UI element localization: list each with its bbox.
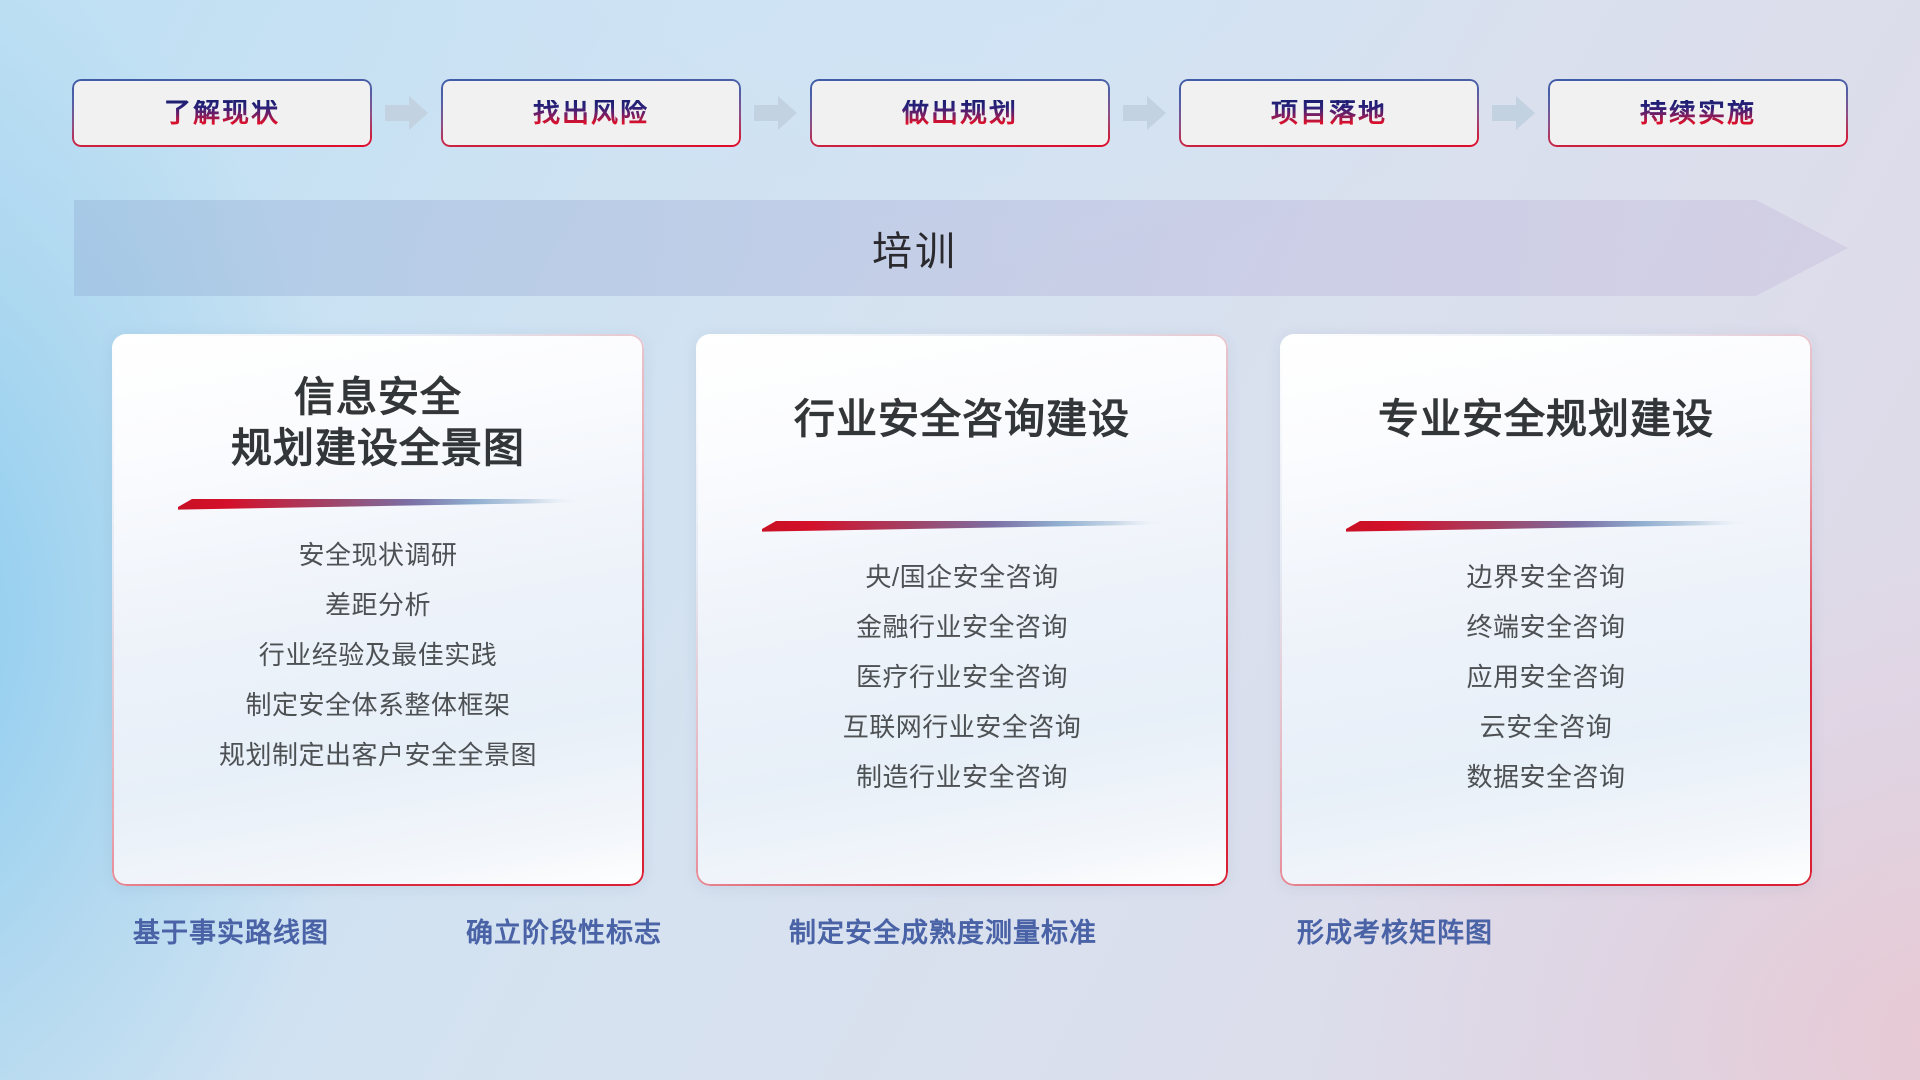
- slide-canvas: 了解现状 找出风险 做出规划 项目落地 持续实施 培训: [0, 0, 1920, 1080]
- footer-label-2: 确立阶段性标志: [466, 920, 662, 947]
- card-2-divider: [762, 518, 1162, 532]
- footer-labels: 基于事实路线图 确立阶段性标志 制定安全成熟度测量标准 形成考核矩阵图: [0, 920, 1920, 976]
- list-item: 规划制定出客户安全全景图: [219, 730, 537, 780]
- step-label-1: 了解现状: [164, 100, 280, 127]
- step-label-2: 找出风险: [533, 100, 649, 127]
- step-box-4[interactable]: 项目落地: [1179, 79, 1479, 147]
- list-item: 行业经验及最佳实践: [219, 630, 537, 680]
- list-item: 云安全咨询: [1466, 702, 1625, 752]
- list-item: 医疗行业安全咨询: [843, 652, 1082, 702]
- arrow-right-icon-2: [754, 95, 798, 131]
- list-item: 金融行业安全咨询: [843, 602, 1082, 652]
- training-banner: 培训: [74, 200, 1848, 296]
- process-steps: 了解现状 找出风险 做出规划 项目落地 持续实施: [72, 78, 1848, 148]
- card-3-title: 专业安全规划建设: [1378, 394, 1714, 445]
- list-item: 互联网行业安全咨询: [843, 702, 1082, 752]
- step-box-1[interactable]: 了解现状: [72, 79, 372, 147]
- card-1[interactable]: 信息安全 规划建设全景图: [112, 334, 644, 886]
- list-item: 应用安全咨询: [1466, 652, 1625, 702]
- step-label-3: 做出规划: [902, 100, 1018, 127]
- step-label-4: 项目落地: [1271, 100, 1387, 127]
- card-3-list: 边界安全咨询 终端安全咨询 应用安全咨询 云安全咨询 数据安全咨询: [1466, 552, 1625, 802]
- list-item: 差距分析: [219, 580, 537, 630]
- arrow-right-icon-4: [1492, 95, 1536, 131]
- card-1-title: 信息安全 规划建设全景图: [231, 372, 525, 474]
- banner-label: 培训: [74, 200, 1756, 296]
- card-1-divider: [178, 496, 578, 510]
- card-2-title: 行业安全咨询建设: [794, 394, 1130, 445]
- footer-label-1: 基于事实路线图: [133, 920, 329, 947]
- card-3-divider: [1346, 518, 1746, 532]
- list-item: 央/国企安全咨询: [843, 552, 1082, 602]
- card-3[interactable]: 专业安全规划建设: [1280, 334, 1812, 886]
- step-label-5: 持续实施: [1640, 100, 1756, 127]
- list-item: 制定安全体系整体框架: [219, 680, 537, 730]
- cards-row: 信息安全 规划建设全景图: [112, 334, 1812, 886]
- list-item: 制造行业安全咨询: [843, 752, 1082, 802]
- step-box-2[interactable]: 找出风险: [441, 79, 741, 147]
- arrow-right-icon-3: [1123, 95, 1167, 131]
- footer-label-3: 制定安全成熟度测量标准: [789, 920, 1097, 947]
- list-item: 安全现状调研: [219, 530, 537, 580]
- step-box-3[interactable]: 做出规划: [810, 79, 1110, 147]
- card-2[interactable]: 行业安全咨询建设: [696, 334, 1228, 886]
- card-2-list: 央/国企安全咨询 金融行业安全咨询 医疗行业安全咨询 互联网行业安全咨询 制造行…: [843, 552, 1082, 802]
- card-1-list: 安全现状调研 差距分析 行业经验及最佳实践 制定安全体系整体框架 规划制定出客户…: [219, 530, 537, 780]
- arrow-right-icon-1: [385, 95, 429, 131]
- list-item: 终端安全咨询: [1466, 602, 1625, 652]
- list-item: 数据安全咨询: [1466, 752, 1625, 802]
- step-box-5[interactable]: 持续实施: [1548, 79, 1848, 147]
- list-item: 边界安全咨询: [1466, 552, 1625, 602]
- footer-label-4: 形成考核矩阵图: [1297, 920, 1493, 947]
